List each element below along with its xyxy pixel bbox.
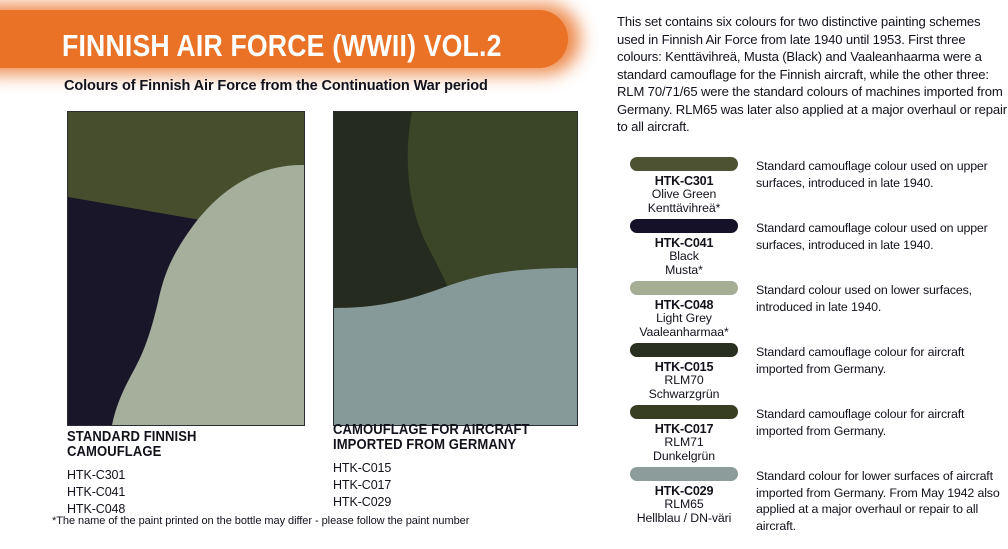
swatch-identity: HTK-C301 Olive Green Kenttävihreä* — [612, 155, 756, 215]
code-b-2: HTK-C017 — [333, 477, 595, 494]
swatch-identity: HTK-C029 RLM65 Hellblau / DN-väri — [612, 465, 756, 525]
swatch-row: HTK-C029 RLM65 Hellblau / DN-väri Standa… — [612, 465, 1008, 527]
swatch-row: HTK-C048 Light Grey Vaaleanharmaa* Stand… — [612, 279, 1008, 341]
swatch-alt-name: Schwarzgrün — [612, 388, 756, 402]
camouflage-art-b — [334, 112, 577, 425]
header-banner: FINNISH AIR FORCE (WWII) VOL.2 — [0, 10, 595, 68]
swatch-name: Black — [612, 250, 756, 264]
code-a-2: HTK-C041 — [67, 484, 317, 501]
footnote: *The name of the paint printed on the bo… — [52, 515, 592, 527]
camouflage-image-german-imported — [333, 111, 578, 426]
swatch-row: HTK-C017 RLM71 Dunkelgrün Standard camou… — [612, 403, 1008, 465]
right-column: This set contains six colours for two di… — [612, 0, 1008, 549]
swatch-row: HTK-C015 RLM70 Schwarzgrün Standard camo… — [612, 341, 1008, 403]
swatch-code: HTK-C048 — [612, 298, 756, 312]
code-a-1: HTK-C301 — [67, 467, 317, 484]
swatch-identity: HTK-C041 Black Musta* — [612, 217, 756, 277]
swatch-name: RLM70 — [612, 374, 756, 388]
swatch-name: RLM65 — [612, 498, 756, 512]
swatch-description: Standard camouflage colour for aircraft … — [756, 344, 1008, 377]
swatch-code: HTK-C041 — [612, 236, 756, 250]
swatch-alt-name: Kenttävihreä* — [612, 202, 756, 216]
swatch-identity: HTK-C048 Light Grey Vaaleanharmaa* — [612, 279, 756, 339]
swatch-description: Standard camouflage colour used on upper… — [756, 158, 1008, 191]
page-root: FINNISH AIR FORCE (WWII) VOL.2 Colours o… — [0, 0, 1008, 549]
swatch-name: Olive Green — [612, 188, 756, 202]
swatch-identity: HTK-C015 RLM70 Schwarzgrün — [612, 341, 756, 401]
camouflage-art-a — [68, 112, 304, 425]
caption-codes-b: HTK-C015 HTK-C017 HTK-C029 — [333, 460, 595, 511]
swatch-alt-name: Hellblau / DN-väri — [612, 512, 756, 526]
colour-pill-swatch — [630, 343, 738, 357]
swatch-code: HTK-C015 — [612, 360, 756, 374]
swatch-alt-name: Vaaleanharmaa* — [612, 326, 756, 340]
caption-german-imported: CAMOUFLAGE FOR AIRCRAFT IMPORTED FROM GE… — [333, 423, 595, 511]
swatch-description: Standard colour used on lower surfaces, … — [756, 282, 1008, 315]
code-b-1: HTK-C015 — [333, 460, 595, 477]
caption-title-b: CAMOUFLAGE FOR AIRCRAFT IMPORTED FROM GE… — [333, 423, 569, 452]
caption-standard-finnish: STANDARD FINNISH CAMOUFLAGE HTK-C301 HTK… — [67, 430, 317, 518]
colour-pill-swatch — [630, 157, 738, 171]
swatch-description: Standard colour for lower surfaces of ai… — [756, 468, 1008, 534]
swatch-code: HTK-C017 — [612, 422, 756, 436]
colour-pill-swatch — [630, 219, 738, 233]
swatch-code: HTK-C029 — [612, 484, 756, 498]
left-column: FINNISH AIR FORCE (WWII) VOL.2 Colours o… — [0, 0, 612, 549]
swatch-alt-name: Musta* — [612, 264, 756, 278]
caption-codes-a: HTK-C301 HTK-C041 HTK-C048 — [67, 467, 317, 518]
page-title: FINNISH AIR FORCE (WWII) VOL.2 — [62, 30, 509, 62]
colour-pill-swatch — [630, 281, 738, 295]
swatch-row: HTK-C301 Olive Green Kenttävihreä* Stand… — [612, 155, 1008, 217]
swatch-code: HTK-C301 — [612, 174, 756, 188]
colour-pill-swatch — [630, 467, 738, 481]
swatch-alt-name: Dunkelgrün — [612, 450, 756, 464]
intro-paragraph: This set contains six colours for two di… — [617, 13, 1007, 136]
colour-swatch-list: HTK-C301 Olive Green Kenttävihreä* Stand… — [612, 155, 1008, 527]
colour-pill-swatch — [630, 405, 738, 419]
caption-title-a: STANDARD FINNISH CAMOUFLAGE — [67, 430, 292, 459]
swatch-identity: HTK-C017 RLM71 Dunkelgrün — [612, 403, 756, 463]
swatch-row: HTK-C041 Black Musta* Standard camouflag… — [612, 217, 1008, 279]
swatch-name: RLM71 — [612, 436, 756, 450]
page-subtitle: Colours of Finnish Air Force from the Co… — [64, 78, 604, 94]
code-b-3: HTK-C029 — [333, 494, 595, 511]
camouflage-image-standard-finnish — [67, 111, 305, 426]
swatch-description: Standard camouflage colour used on upper… — [756, 220, 1008, 253]
swatch-description: Standard camouflage colour for aircraft … — [756, 406, 1008, 439]
swatch-name: Light Grey — [612, 312, 756, 326]
